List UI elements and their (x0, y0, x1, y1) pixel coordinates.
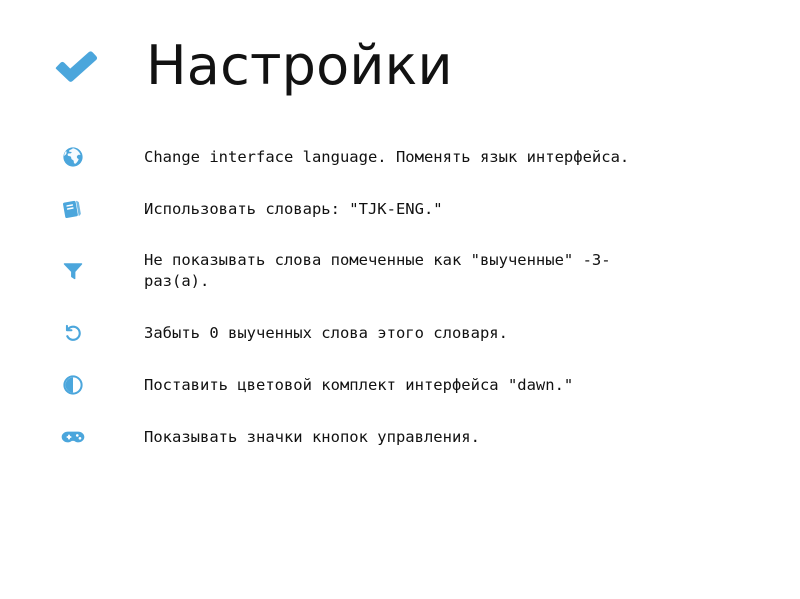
setting-label: Использовать словарь: "TJK-ENG." (144, 199, 443, 220)
globe-icon (56, 140, 90, 174)
setting-label: Забыть 0 выученных слова этого словаря. (144, 323, 508, 344)
filter-icon (56, 254, 90, 288)
check-icon (50, 40, 102, 92)
setting-row[interactable]: Использовать словарь: "TJK-ENG." (0, 183, 800, 235)
setting-row[interactable]: Забыть 0 выученных слова этого словаря. (0, 307, 800, 359)
setting-row[interactable]: Поставить цветовой комплект интерфейса "… (0, 359, 800, 411)
page-header: Настройки (0, 24, 800, 108)
book-icon (56, 192, 90, 226)
setting-label: Поставить цветовой комплект интерфейса "… (144, 375, 573, 396)
gamepad-icon (56, 420, 90, 454)
setting-label: Не показывать слова помеченные как "выуч… (144, 250, 611, 292)
settings-screen: Настройки Change interface language. Пом… (0, 0, 800, 599)
page-title: Настройки (146, 39, 453, 93)
setting-label: Change interface language. Поменять язык… (144, 147, 629, 168)
setting-label: Показывать значки кнопок управления. (144, 427, 480, 448)
contrast-icon (56, 368, 90, 402)
setting-row[interactable]: Change interface language. Поменять язык… (0, 131, 800, 183)
setting-row[interactable]: Не показывать слова помеченные как "выуч… (0, 235, 800, 307)
settings-list: Change interface language. Поменять язык… (0, 131, 800, 463)
setting-row[interactable]: Показывать значки кнопок управления. (0, 411, 800, 463)
undo-icon (56, 316, 90, 350)
